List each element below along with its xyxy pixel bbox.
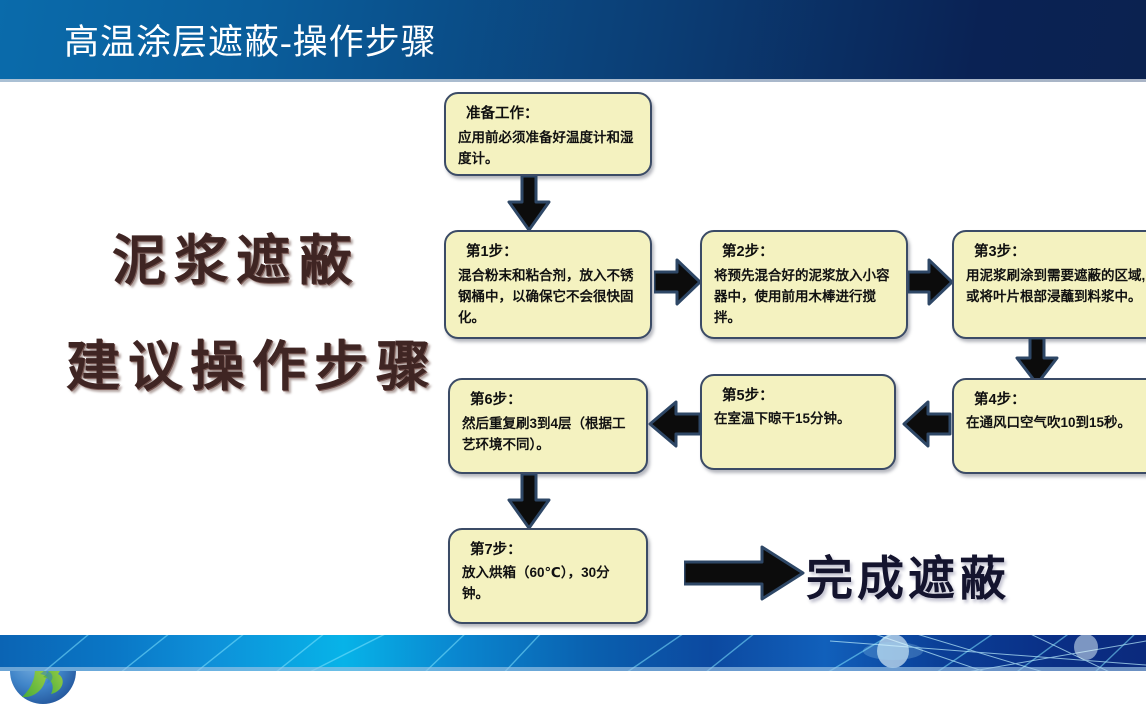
flow-box-step-3[interactable]: 第3步： 用泥浆刷涂到需要遮蔽的区域,或将叶片根部浸蘸到料浆中。 — [952, 230, 1146, 339]
flow-box-title: 第3步： — [974, 241, 1146, 263]
flow-box-title: 第7步： — [470, 539, 636, 561]
flow-box-step-4[interactable]: 第4步： 在通风口空气吹10到15秒。 — [952, 378, 1146, 474]
flow-box-title: 第4步： — [974, 389, 1146, 411]
flow-box-title: 准备工作： — [466, 103, 640, 125]
flow-box-body: 在通风口空气吹10到15秒。 — [966, 413, 1146, 434]
flow-box-body: 然后重复刷3到4层（根据工艺环境不同）。 — [462, 414, 636, 456]
flow-box-step-1[interactable]: 第1步： 混合粉末和粘合剂，放入不锈钢桶中，以确保它不会很快固化。 — [444, 230, 652, 339]
footer-base-line — [0, 667, 1146, 671]
flow-box-body: 放入烘箱（60℃），30分钟。 — [462, 563, 636, 605]
arrow-left-icon-step4-to-step5 — [900, 400, 952, 448]
flow-box-title: 第2步： — [722, 241, 896, 263]
flow-box-body: 在室温下晾干15分钟。 — [714, 409, 884, 430]
slide-body: 泥浆遮蔽 建议操作步骤 准备工作： 应用前必须准备好温度计和湿度计。 第1步： … — [0, 82, 1146, 635]
wordart-heading-line2: 建议操作步骤 — [66, 322, 438, 401]
wordart-heading-line1: 泥浆遮蔽 — [112, 216, 360, 295]
arrow-down-icon-step6-to-step7 — [506, 474, 552, 530]
flow-box-body: 应用前必须准备好温度计和湿度计。 — [458, 128, 640, 170]
arrow-down-icon-prep-to-step1 — [506, 176, 552, 232]
flow-box-body: 混合粉末和粘合剂，放入不锈钢桶中，以确保它不会很快固化。 — [458, 266, 640, 329]
page-title: 高温涂层遮蔽-操作步骤 — [64, 14, 437, 65]
flow-box-title: 第1步： — [466, 241, 640, 263]
arrow-right-icon-step1-to-step2 — [654, 258, 702, 306]
flow-box-preparation[interactable]: 准备工作： 应用前必须准备好温度计和湿度计。 — [444, 92, 652, 176]
finish-label: 完成遮蔽 — [806, 540, 1010, 609]
arrow-right-icon-step7-to-finish — [684, 544, 806, 602]
flow-box-step-6[interactable]: 第6步： 然后重复刷3到4层（根据工艺环境不同）。 — [448, 378, 648, 474]
slide-footer-band — [0, 635, 1146, 671]
flow-box-title: 第5步： — [722, 385, 884, 407]
flow-box-body: 用泥浆刷涂到需要遮蔽的区域,或将叶片根部浸蘸到料浆中。 — [966, 266, 1146, 308]
flow-box-step-5[interactable]: 第5步： 在室温下晾干15分钟。 — [700, 374, 896, 470]
flow-box-step-2[interactable]: 第2步： 将预先混合好的泥浆放入小容器中，使用前用木棒进行搅拌。 — [700, 230, 908, 339]
flow-box-body: 将预先混合好的泥浆放入小容器中，使用前用木棒进行搅拌。 — [714, 266, 896, 329]
flow-box-step-7[interactable]: 第7步： 放入烘箱（60℃），30分钟。 — [448, 528, 648, 624]
arrow-left-icon-step5-to-step6 — [646, 400, 702, 448]
arrow-right-icon-step2-to-step3 — [908, 258, 954, 306]
flow-box-title: 第6步： — [470, 389, 636, 411]
footer-light-streaks-icon — [0, 635, 1146, 671]
slide-header-bar: 高温涂层遮蔽-操作步骤 — [0, 0, 1146, 79]
